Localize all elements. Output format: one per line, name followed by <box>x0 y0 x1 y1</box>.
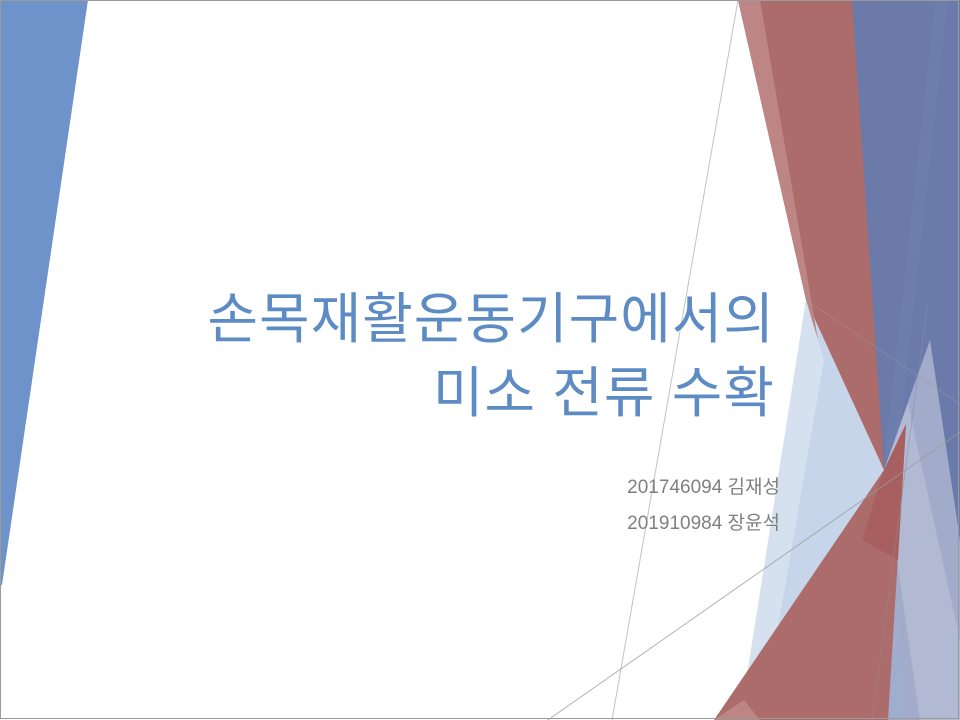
blue-gray-band <box>822 0 936 470</box>
title-slide: 손목재활운동기구에서의 미소 전류 수확 201746094 김재성 20191… <box>0 0 960 720</box>
title-line-1: 손목재활운동기구에서의 <box>120 282 775 356</box>
lavender-facet-2 <box>884 404 960 720</box>
left-blue-wedge <box>0 0 88 585</box>
hairline-diagonal-short <box>806 300 960 404</box>
red-band-bottom-light-edge <box>714 700 760 720</box>
right-blue-band <box>852 0 960 720</box>
blue-gray-band-lower <box>884 0 960 720</box>
subtitle-line-1: 201746094 김재성 <box>300 470 780 506</box>
title-line-2: 미소 전류 수확 <box>120 356 775 430</box>
subtitle-group: 201746094 김재성 201910984 장윤석 <box>300 470 780 542</box>
red-band-lower <box>714 424 906 720</box>
red-band-lower-dark-edge <box>862 424 906 560</box>
title-group: 손목재활운동기구에서의 미소 전류 수확 <box>120 282 775 430</box>
right-blue-band-light-edge <box>852 0 948 720</box>
lavender-facet <box>884 340 960 720</box>
subtitle-line-2: 201910984 장윤석 <box>300 506 780 542</box>
hairline-diagonal-right <box>872 300 928 720</box>
